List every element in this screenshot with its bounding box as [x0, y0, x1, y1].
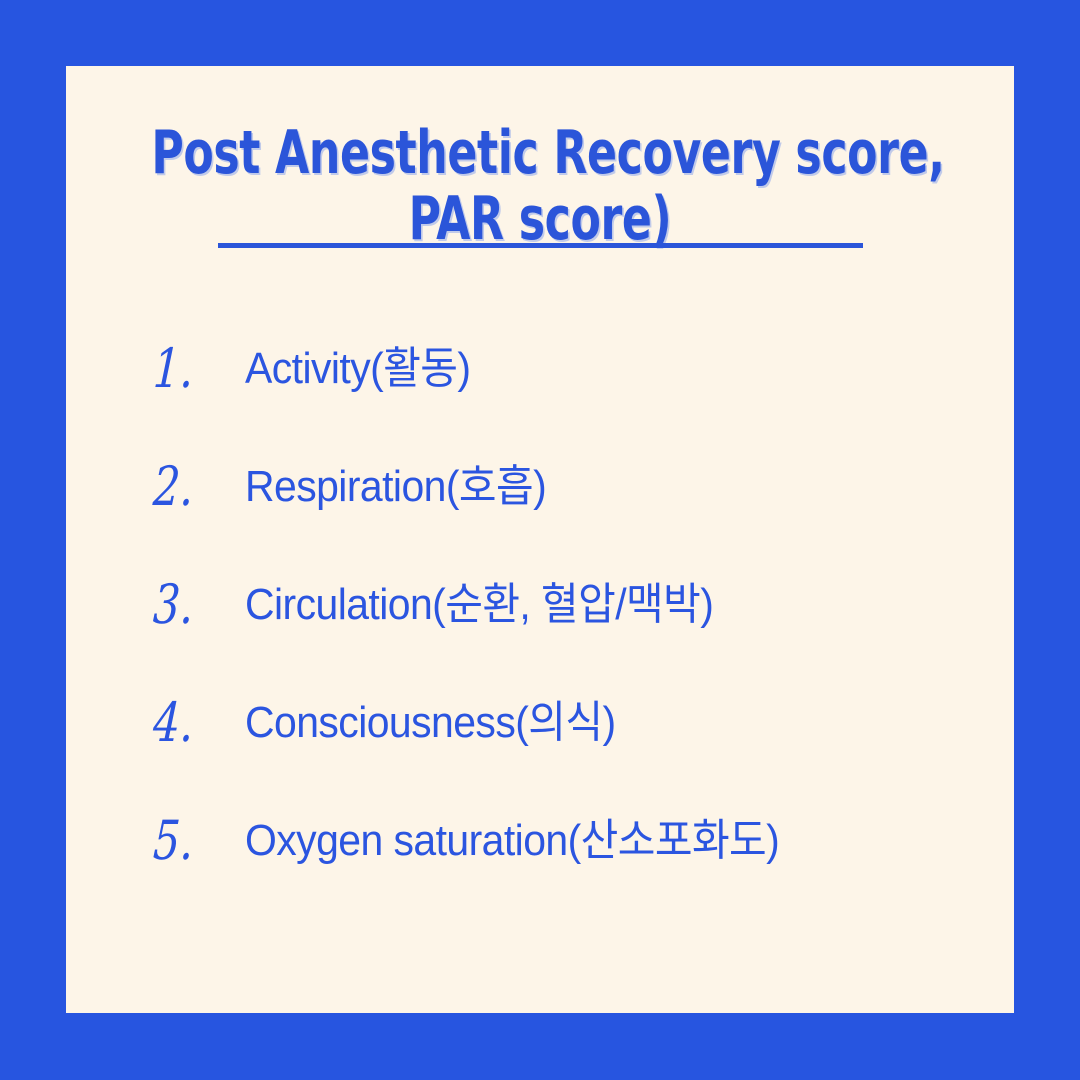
- list-item-number: 2.: [66, 456, 207, 518]
- content-card: Post Anesthetic Recovery score, PAR scor…: [66, 66, 1014, 1013]
- list-item: 3. Circulation(순환, 혈압/맥박): [66, 574, 1014, 692]
- list-item-label: Oxygen saturation(산소포화도): [245, 810, 960, 872]
- title-line-1: Post Anesthetic Recovery score,: [151, 120, 928, 186]
- list-item: 2. Respiration(호흡): [66, 456, 1014, 574]
- list-item-label: Circulation(순환, 혈압/맥박): [245, 574, 960, 636]
- list-item-label: Activity(활동): [245, 338, 960, 400]
- list-item: 1. Activity(활동): [66, 338, 1014, 456]
- numbered-list: 1. Activity(활동) 2. Respiration(호흡) 3. Ci…: [66, 338, 1014, 928]
- list-item-number: 3.: [66, 574, 207, 636]
- list-item-label: Consciousness(의식): [245, 692, 960, 754]
- title-underline-rule: [218, 243, 863, 248]
- list-item: 5. Oxygen saturation(산소포화도): [66, 810, 1014, 928]
- list-item-number: 4.: [66, 692, 207, 754]
- list-item-label: Respiration(호흡): [245, 456, 960, 518]
- page-title: Post Anesthetic Recovery score, PAR scor…: [66, 120, 1014, 252]
- list-item-number: 1.: [66, 338, 207, 400]
- list-item: 4. Consciousness(의식): [66, 692, 1014, 810]
- list-item-number: 5.: [66, 810, 207, 872]
- slide-frame: Post Anesthetic Recovery score, PAR scor…: [0, 0, 1080, 1080]
